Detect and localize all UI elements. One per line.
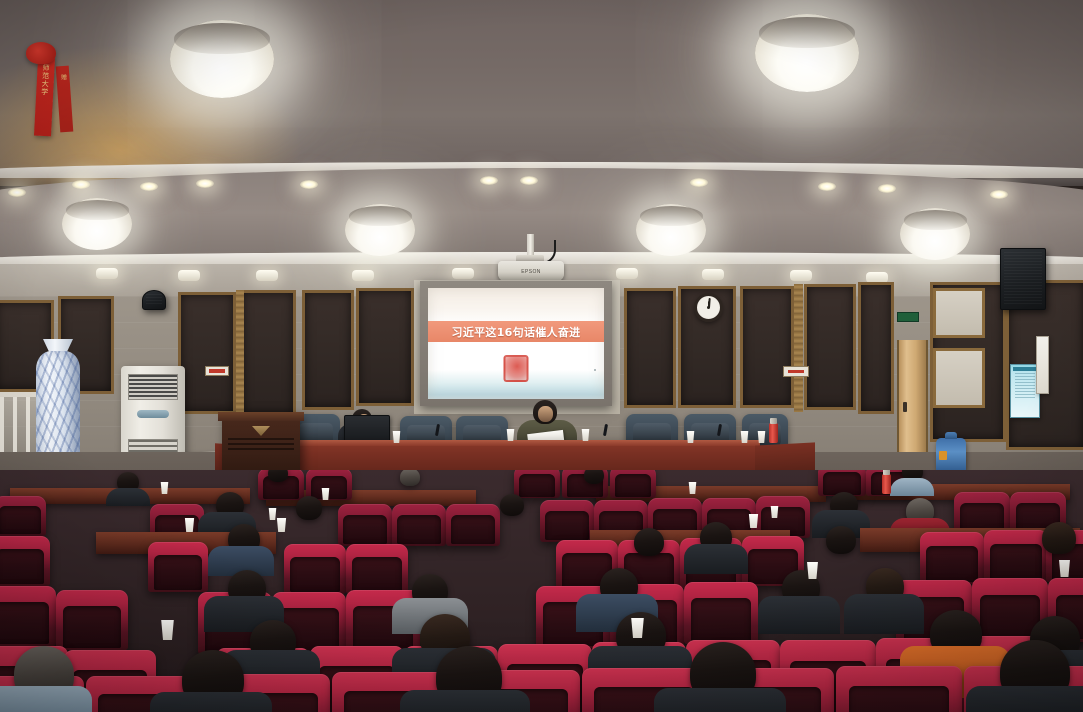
audience-shoulders <box>0 686 92 712</box>
ceiling-dome-light-2 <box>755 14 859 92</box>
audience-head <box>400 470 420 486</box>
porcelain-vase <box>36 339 80 464</box>
ceiling-dome-light-5 <box>636 204 706 256</box>
paper-cup <box>268 508 277 520</box>
projection-screen-frame: 习近平这16句话催人奋进 <box>420 281 612 406</box>
audience-shoulders <box>758 596 840 634</box>
audience-head <box>584 470 604 484</box>
recessed-downlight <box>352 270 374 281</box>
seat <box>540 500 594 542</box>
seat <box>346 544 408 594</box>
red-thermos <box>882 474 891 494</box>
wall-notice-strip <box>1036 336 1049 394</box>
exit-door[interactable] <box>897 340 928 452</box>
ceiling-spotlight <box>8 188 26 197</box>
ceiling-upper <box>0 0 1083 186</box>
red-thermos <box>769 423 778 443</box>
wall-speaker-left <box>142 290 166 310</box>
vase-ribbon-text-2: 赠 <box>58 74 67 81</box>
exit-sign <box>897 312 919 322</box>
recessed-downlight <box>256 270 278 281</box>
wall-panel-dark <box>356 288 414 406</box>
slide-seal-stamp <box>504 355 529 382</box>
seat <box>0 496 46 536</box>
seat <box>684 582 758 644</box>
audience-shoulders <box>654 688 786 712</box>
recessed-downlight <box>616 268 638 279</box>
slide-corner-marker <box>594 369 596 371</box>
ceiling-spotlight <box>72 180 90 189</box>
vase-ribbon-text: 师范大学 <box>41 64 51 96</box>
paper-cup <box>160 620 175 640</box>
seat <box>446 504 500 546</box>
podium-emblem <box>252 426 270 436</box>
ceiling-spotlight <box>690 178 708 187</box>
audience-shoulders <box>890 478 934 496</box>
seat <box>306 470 352 500</box>
ceiling-spotlight <box>818 182 836 191</box>
ceiling-spotlight <box>990 190 1008 199</box>
ceiling-spotlight <box>196 179 214 188</box>
wall-panel-dark <box>740 286 794 408</box>
wall-panel-dark <box>804 284 856 410</box>
vase-body <box>36 351 80 464</box>
wall-clock <box>694 293 723 322</box>
ceiling-spotlight <box>140 182 158 191</box>
ceiling-spotlight <box>878 184 896 193</box>
seat <box>0 586 56 646</box>
ceiling-spotlight <box>300 180 318 189</box>
audience-shoulders <box>966 686 1083 712</box>
audience-head <box>268 470 288 482</box>
seat <box>836 666 962 712</box>
seat <box>984 530 1048 582</box>
wall-speaker-right <box>1000 248 1046 310</box>
slide-title-banner: 习近平这16句话催人奋进 <box>428 321 604 342</box>
paper-cup <box>276 518 287 532</box>
wall-sign-left <box>205 366 229 376</box>
audience-seating-area <box>0 470 1083 712</box>
audience-head <box>500 494 524 516</box>
recessed-downlight <box>452 268 474 279</box>
wall-insert-light <box>933 348 985 408</box>
audience-shoulders <box>684 544 748 574</box>
water-jug-label <box>939 451 947 460</box>
recessed-downlight <box>178 270 200 281</box>
clock-center-pin <box>707 306 710 309</box>
wall-panel-dark <box>302 290 354 410</box>
audience-shoulders <box>150 692 272 712</box>
seat <box>56 590 128 650</box>
ac-vent-top <box>128 374 178 400</box>
seat <box>610 470 656 498</box>
wall-panel-dark <box>624 288 676 408</box>
slide-title-text: 习近平这16句话催人奋进 <box>452 324 581 340</box>
wall-panel-dark <box>858 282 894 414</box>
recessed-downlight <box>790 270 812 281</box>
water-jug <box>936 438 966 472</box>
wall-trim-column <box>236 290 244 418</box>
ceiling-dome-light-3 <box>62 198 132 250</box>
ceiling-spotlight <box>520 176 538 185</box>
seat <box>338 504 392 546</box>
seat <box>392 504 446 546</box>
seat <box>284 544 346 594</box>
projection-screen: 习近平这16句话催人奋进 <box>428 288 604 399</box>
door-handle[interactable] <box>903 402 907 412</box>
audience-head <box>296 496 322 520</box>
wall-insert-light <box>933 288 985 338</box>
seat <box>0 536 50 586</box>
wall-trim-column <box>794 284 803 412</box>
audience-shoulders <box>844 594 924 634</box>
auditorium-photo: EPSON <box>0 0 1083 712</box>
recessed-downlight <box>702 269 724 280</box>
ceiling-dome-light-6 <box>900 208 970 260</box>
audience-shoulders <box>106 488 150 506</box>
ceiling-spotlight <box>480 176 498 185</box>
vase-ribbon-bow <box>26 42 56 64</box>
recessed-downlight <box>96 268 118 279</box>
audience-shoulders <box>400 690 530 712</box>
audience-head <box>634 528 664 556</box>
ac-brand-badge <box>137 410 169 418</box>
seat <box>514 470 560 498</box>
projector: EPSON <box>498 261 564 281</box>
podium-top <box>218 412 304 421</box>
audience-head <box>826 526 856 554</box>
wall-panel-dark <box>178 292 236 414</box>
notice-header <box>1013 367 1037 371</box>
wall-sign-right <box>783 366 809 377</box>
projector-brand-label: EPSON <box>498 269 564 275</box>
wall-panel-dark <box>240 290 296 416</box>
audience-head <box>1042 522 1076 554</box>
seat <box>148 542 208 592</box>
seat <box>920 532 984 584</box>
speaker-face <box>538 406 553 422</box>
ceiling-dome-light-1 <box>170 20 274 98</box>
ceiling-dome-light-4 <box>345 204 415 256</box>
